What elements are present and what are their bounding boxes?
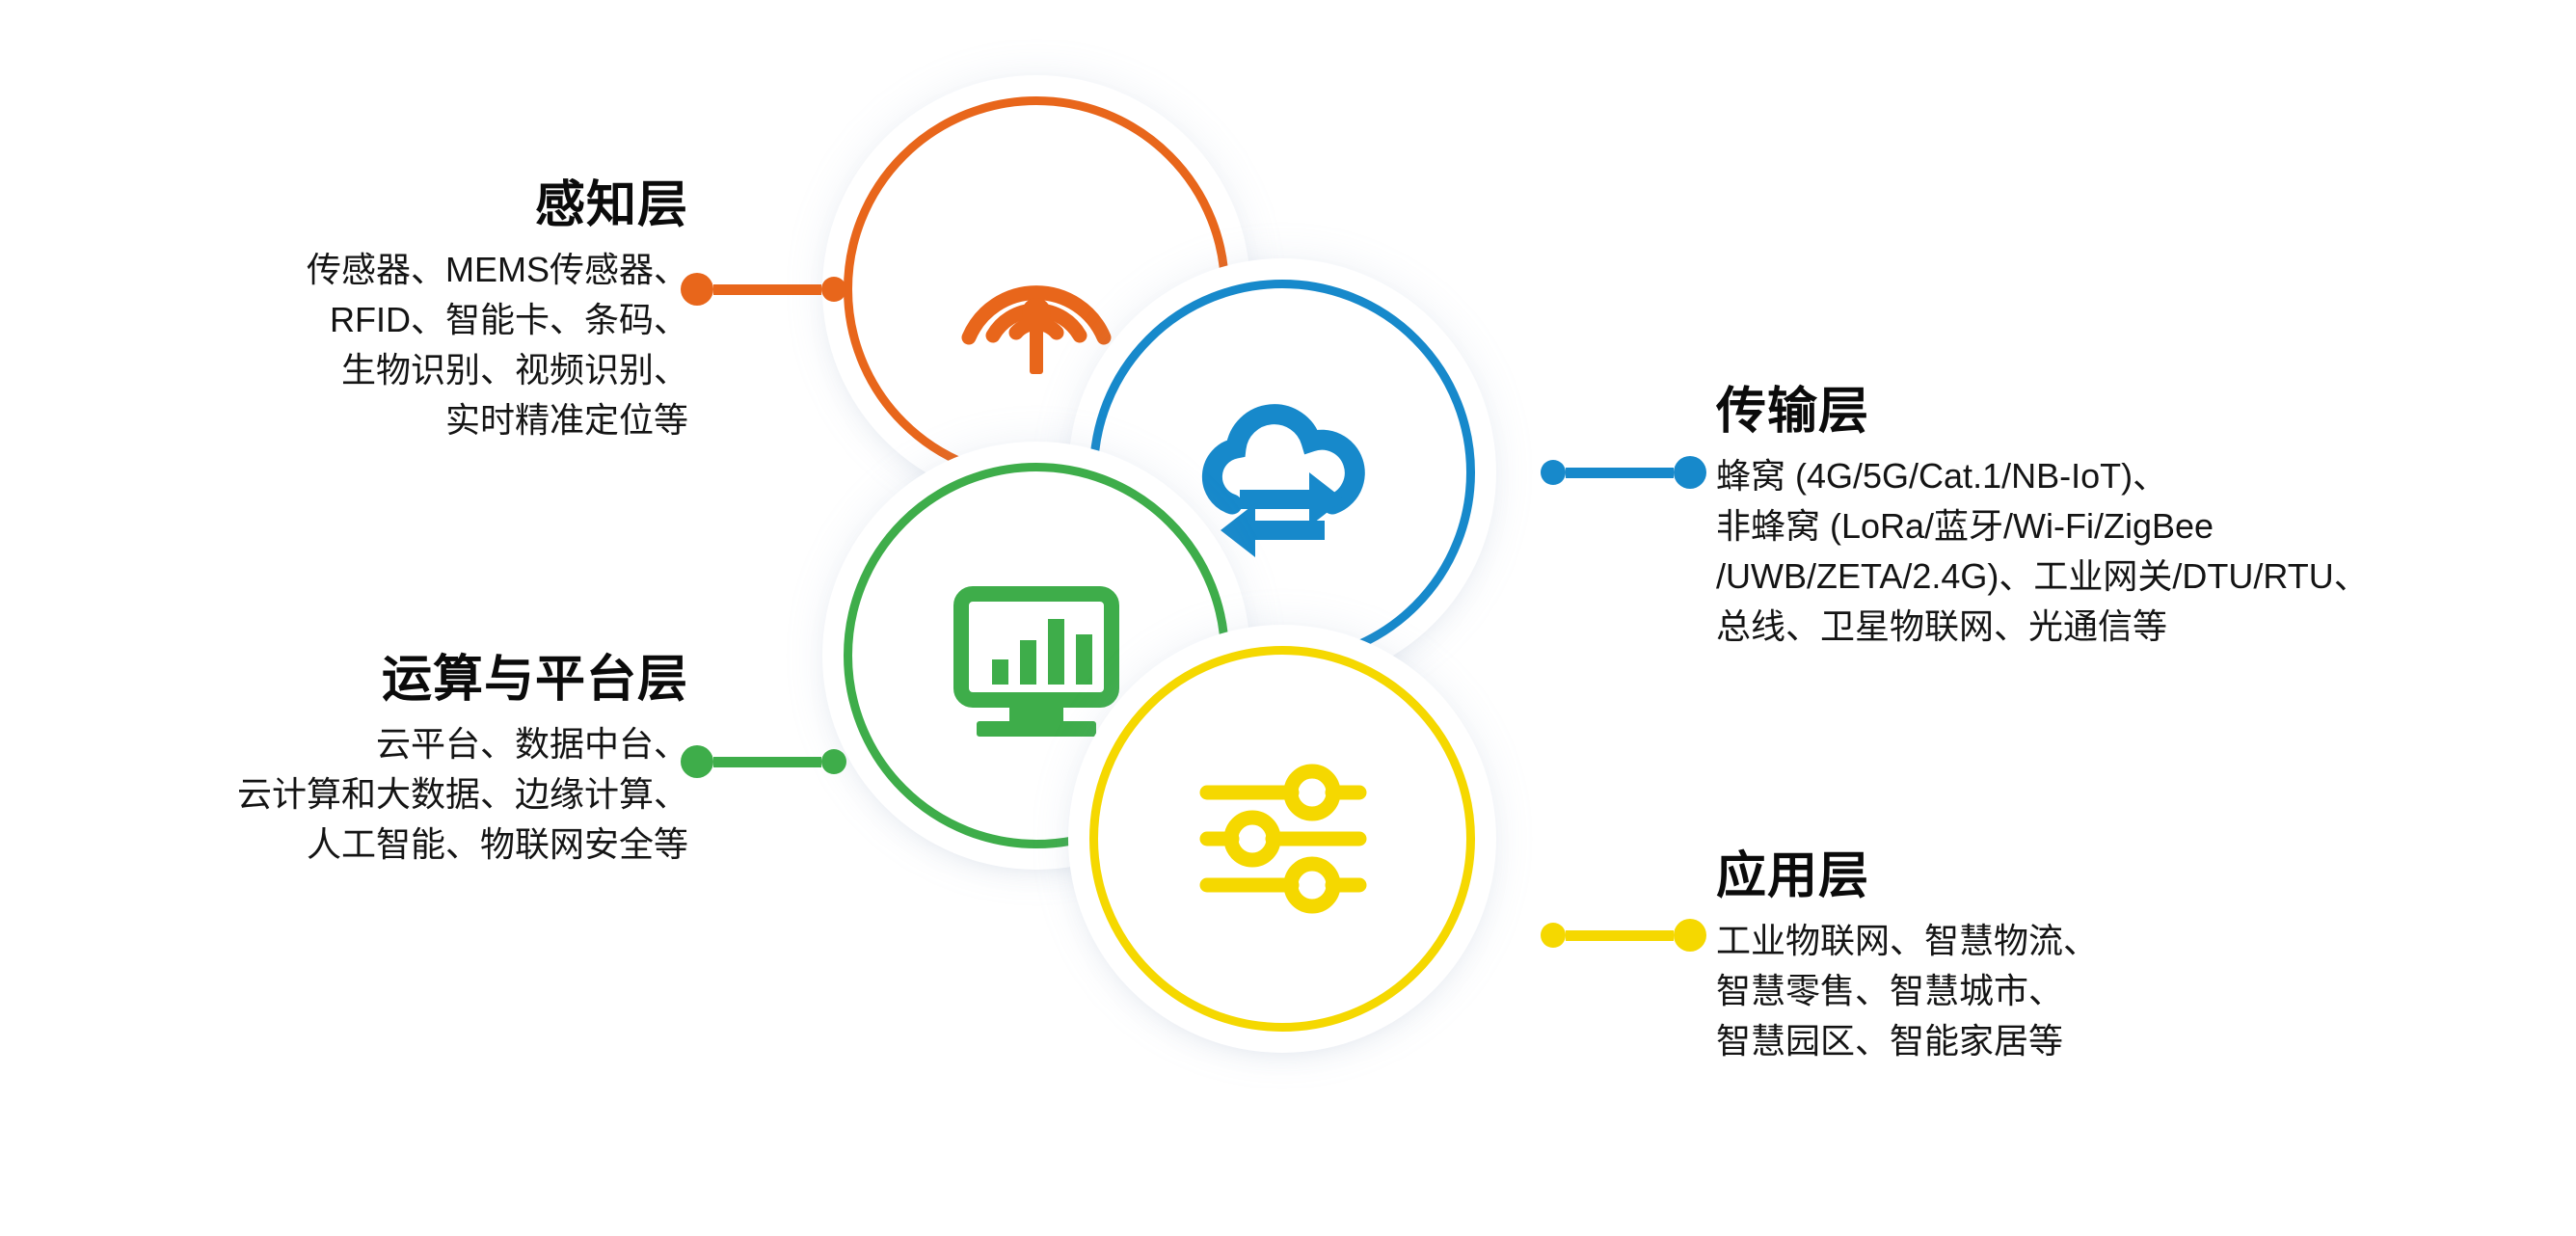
connector-sense: [681, 269, 846, 309]
layer-title-transmit: 传输层: [1716, 384, 2369, 440]
connector-apply: [1541, 915, 1706, 955]
layer-desc-line: 工业物联网、智慧物流、: [1716, 916, 2098, 966]
layer-text-apply: 应用层 工业物联网、智慧物流、 智慧零售、智慧城市、 智慧园区、智能家居等: [1716, 848, 2098, 1066]
signal-broadcast-icon: [935, 188, 1138, 390]
connector-compute: [681, 741, 846, 782]
layer-text-compute: 运算与平台层 云平台、数据中台、 云计算和大数据、边缘计算、 人工智能、物联网安…: [237, 652, 688, 870]
layer-text-sense: 感知层 传感器、MEMS传感器、 RFID、智能卡、条码、 生物识别、视频识别、…: [307, 177, 688, 445]
layer-title-apply: 应用层: [1716, 848, 2098, 904]
infographic-canvas: 感知层 传感器、MEMS传感器、 RFID、智能卡、条码、 生物识别、视频识别、…: [0, 0, 2576, 1236]
layer-desc-line: /UWB/ZETA/2.4G)、工业网关/DTU/RTU、: [1716, 551, 2369, 602]
connector-transmit: [1541, 452, 1706, 493]
sliders-settings-icon: [1181, 738, 1383, 940]
layer-desc-transmit: 蜂窝 (4G/5G/Cat.1/NB-IoT)、 非蜂窝 (LoRa/蓝牙/Wi…: [1716, 451, 2369, 651]
layer-desc-sense: 传感器、MEMS传感器、 RFID、智能卡、条码、 生物识别、视频识别、 实时精…: [307, 245, 688, 444]
layer-desc-line: 生物识别、视频识别、: [307, 345, 688, 395]
connector-node-dot-transmit: [1541, 460, 1566, 485]
layer-desc-line: 人工智能、物联网安全等: [237, 820, 688, 870]
cloud-data-transfer-icon: [1181, 371, 1383, 574]
layer-desc-apply: 工业物联网、智慧物流、 智慧零售、智慧城市、 智慧园区、智能家居等: [1716, 916, 2098, 1065]
layer-desc-compute: 云平台、数据中台、 云计算和大数据、边缘计算、 人工智能、物联网安全等: [237, 719, 688, 869]
layer-node-apply[interactable]: [1089, 646, 1475, 1032]
layer-desc-line: 蜂窝 (4G/5G/Cat.1/NB-IoT)、: [1716, 451, 2369, 501]
connector-node-dot-apply: [1541, 923, 1566, 948]
layer-desc-line: 总线、卫星物联网、光通信等: [1716, 602, 2369, 652]
connector-line-transmit: [1566, 468, 1674, 478]
layer-desc-line: 非蜂窝 (LoRa/蓝牙/Wi-Fi/ZigBee: [1716, 501, 2369, 551]
layer-desc-line: 智慧零售、智慧城市、: [1716, 966, 2098, 1016]
connector-node-dot-sense: [821, 277, 846, 302]
layer-title-sense: 感知层: [307, 177, 688, 233]
connector-line-sense: [713, 284, 821, 295]
layer-text-transmit: 传输层 蜂窝 (4G/5G/Cat.1/NB-IoT)、 非蜂窝 (LoRa/蓝…: [1716, 384, 2369, 652]
layer-title-compute: 运算与平台层: [237, 652, 688, 708]
connector-line-compute: [713, 757, 821, 767]
layer-desc-line: RFID、智能卡、条码、: [307, 295, 688, 345]
layer-desc-line: 智慧园区、智能家居等: [1716, 1016, 2098, 1066]
connector-end-dot-apply: [1674, 919, 1706, 952]
connector-line-apply: [1566, 930, 1674, 941]
connector-node-dot-compute: [821, 749, 846, 774]
connector-end-dot-transmit: [1674, 456, 1706, 489]
layer-desc-line: 传感器、MEMS传感器、: [307, 245, 688, 295]
monitor-bar-chart-icon: [935, 554, 1138, 757]
layer-desc-line: 云平台、数据中台、: [237, 719, 688, 769]
layer-desc-line: 云计算和大数据、边缘计算、: [237, 769, 688, 820]
layer-desc-line: 实时精准定位等: [307, 395, 688, 445]
